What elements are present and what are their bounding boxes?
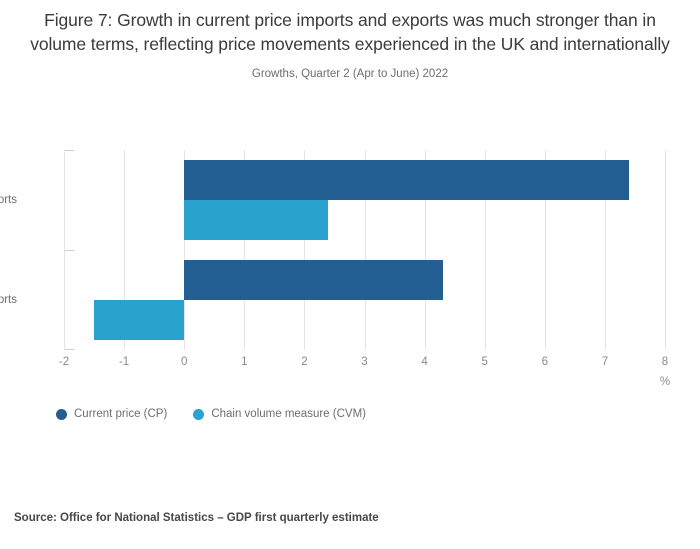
gridline-x-3 — [365, 150, 366, 350]
gridline-x--1 — [124, 150, 125, 350]
source-note: Source: Office for National Statistics –… — [14, 512, 379, 524]
gridline-x-5 — [485, 150, 486, 350]
x-tick-label--2: -2 — [59, 356, 69, 368]
x-tick-label-6: 6 — [542, 356, 548, 368]
bar-exports-cp[interactable] — [184, 160, 629, 200]
x-tick-label-4: 4 — [421, 356, 427, 368]
y-axis-tick-bottom — [65, 349, 74, 350]
gridline-x-7 — [605, 150, 606, 350]
category-label-exports: Exports — [0, 194, 17, 206]
bar-imports-cvm[interactable] — [94, 300, 184, 340]
gridline-x--2 — [64, 150, 65, 350]
x-tick-label-0: 0 — [181, 356, 187, 368]
title-block: Figure 7: Growth in current price import… — [0, 0, 700, 80]
chart-figure: ExportsImports -2-1012345678 % — [0, 0, 700, 549]
bar-imports-cp[interactable] — [184, 260, 442, 300]
gridline-x-0 — [184, 150, 185, 350]
chart-subtitle: Growths, Quarter 2 (Apr to June) 2022 — [28, 68, 672, 80]
y-axis — [64, 150, 73, 350]
legend-item-cvm[interactable]: Chain volume measure (CVM) — [193, 408, 366, 420]
legend-item-cp[interactable]: Current price (CP) — [56, 408, 167, 420]
x-tick-label-1: 1 — [241, 356, 247, 368]
chart-title: Figure 7: Growth in current price import… — [28, 8, 672, 56]
y-axis-tick-middle — [65, 250, 74, 251]
x-axis-unit-label: % — [660, 376, 670, 388]
legend-swatch-circle-icon — [193, 409, 204, 420]
x-tick-label-3: 3 — [361, 356, 367, 368]
gridline-x-2 — [304, 150, 305, 350]
bar-exports-cvm[interactable] — [184, 200, 328, 240]
x-tick-label-8: 8 — [662, 356, 668, 368]
chart-legend: Current price (CP)Chain volume measure (… — [56, 408, 366, 420]
x-tick-label-2: 2 — [301, 356, 307, 368]
x-tick-label--1: -1 — [119, 356, 129, 368]
gridline-x-4 — [425, 150, 426, 350]
gridline-x-1 — [244, 150, 245, 350]
legend-label: Current price (CP) — [74, 408, 167, 420]
y-axis-tick-top — [65, 150, 74, 151]
legend-swatch-circle-icon — [56, 409, 67, 420]
legend-label: Chain volume measure (CVM) — [211, 408, 366, 420]
x-tick-label-5: 5 — [481, 356, 487, 368]
category-label-imports: Imports — [0, 294, 17, 306]
x-tick-label-7: 7 — [602, 356, 608, 368]
gridline-x-8 — [665, 150, 666, 350]
plot-area: ExportsImports -2-1012345678 % — [64, 150, 665, 350]
gridline-x-6 — [545, 150, 546, 350]
